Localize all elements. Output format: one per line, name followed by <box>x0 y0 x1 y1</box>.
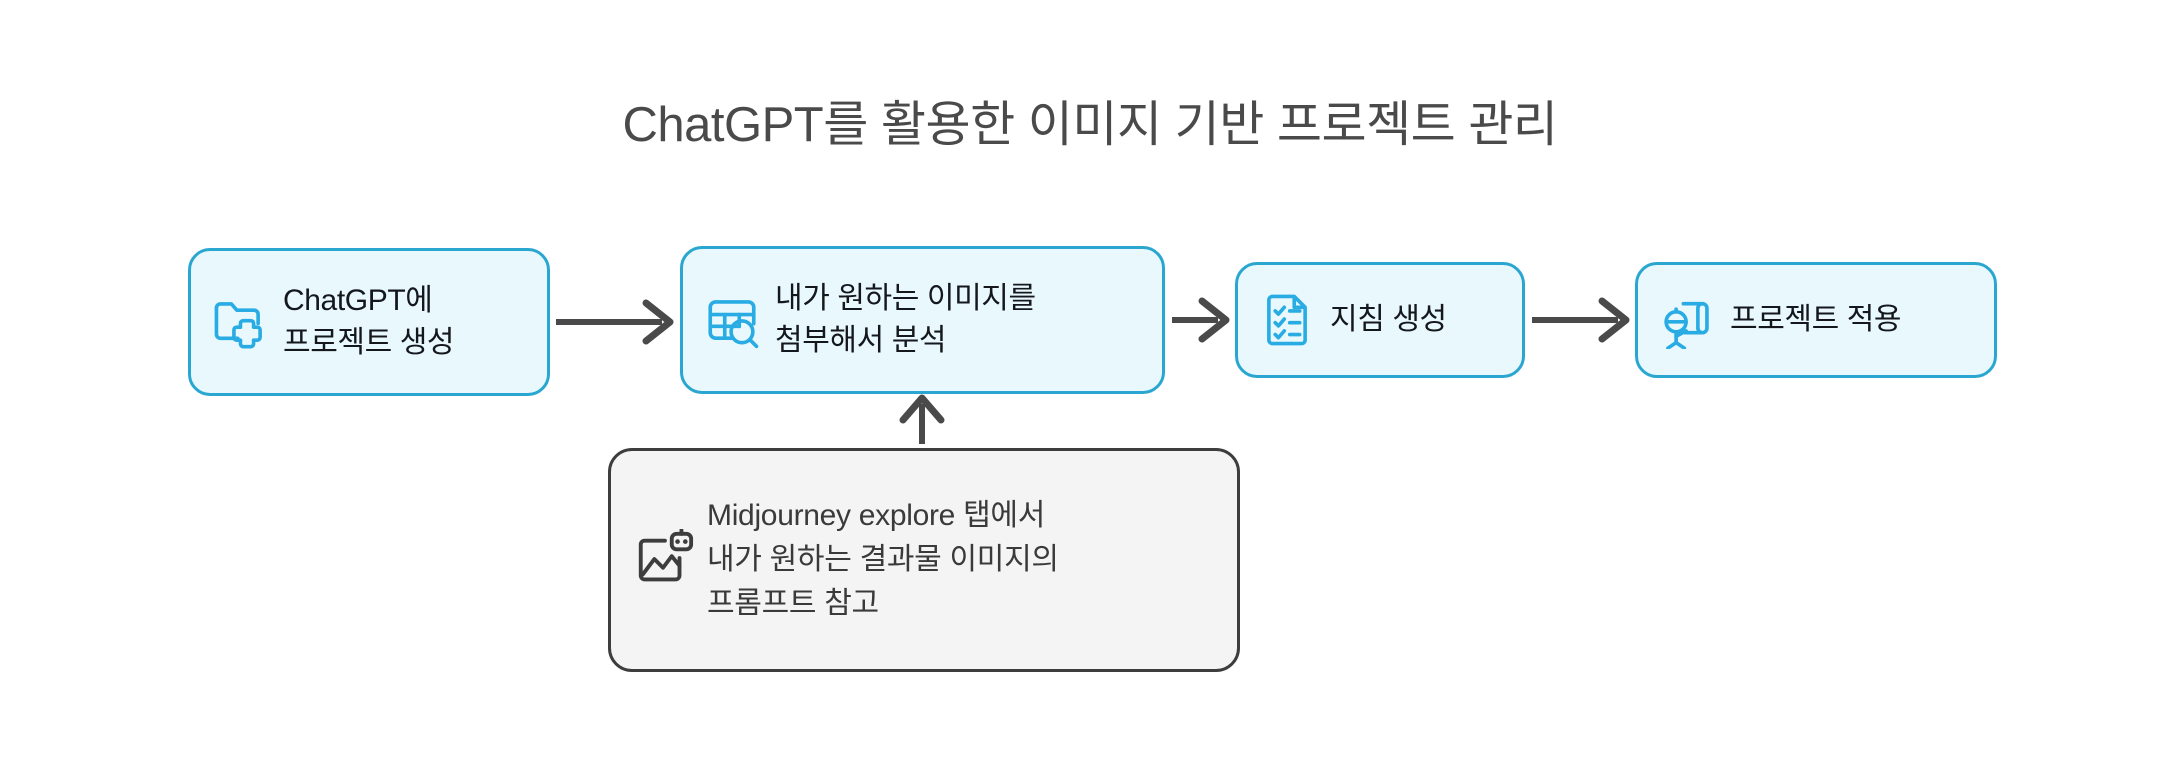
arrow-3-to-4 <box>1532 301 1626 339</box>
arrow-2-to-3 <box>1172 301 1226 339</box>
arrow-note-to-node-2 <box>903 398 941 444</box>
arrow-1-to-2 <box>556 303 670 341</box>
ai-image-icon <box>633 529 695 591</box>
folder-plus-icon <box>211 293 269 351</box>
note-label: Midjourney explore 탭에서 내가 원하는 결과물 이미지의 프… <box>707 494 1059 626</box>
table-search-icon <box>703 291 761 349</box>
person-presentation-icon <box>1658 291 1716 349</box>
checklist-document-icon <box>1258 291 1316 349</box>
flow-node-label: 지침 생성 <box>1330 300 1447 340</box>
flow-node-chatgpt-project-create[interactable]: ChatGPT에 프로젝트 생성 <box>188 248 550 396</box>
flow-node-label: ChatGPT에 프로젝트 생성 <box>283 280 454 364</box>
flow-node-label: 내가 원하는 이미지를 첨부해서 분석 <box>775 278 1036 362</box>
page-title: ChatGPT를 활용한 이미지 기반 프로젝트 관리 <box>0 96 2180 154</box>
flow-node-apply-to-project[interactable]: 프로젝트 적용 <box>1635 262 1997 378</box>
flow-node-label: 프로젝트 적용 <box>1730 300 1901 340</box>
note-midjourney-prompt-reference[interactable]: Midjourney explore 탭에서 내가 원하는 결과물 이미지의 프… <box>608 448 1240 672</box>
diagram-canvas: ChatGPT를 활용한 이미지 기반 프로젝트 관리 Chat <box>0 0 2180 772</box>
flow-node-attach-image-analyze[interactable]: 내가 원하는 이미지를 첨부해서 분석 <box>680 246 1165 394</box>
flow-node-create-instructions[interactable]: 지침 생성 <box>1235 262 1525 378</box>
